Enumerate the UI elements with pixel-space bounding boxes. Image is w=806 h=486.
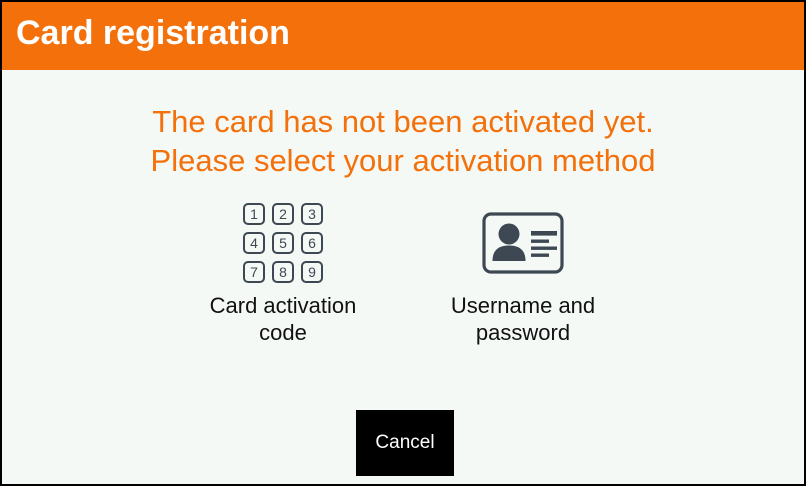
option-username-and-password[interactable]: Username and password [403, 202, 643, 346]
keypad-key: 7 [243, 261, 265, 283]
activation-message: The card has not been activated yet. Ple… [2, 102, 804, 180]
keypad-key: 5 [272, 232, 294, 254]
keypad-key: 6 [301, 232, 323, 254]
activation-message-line-2: Please select your activation method [2, 141, 804, 180]
cancel-button[interactable]: Cancel [356, 410, 454, 476]
page-title: Card registration [16, 14, 290, 53]
option-label-card-activation-code: Card activation code [183, 292, 383, 346]
keypad-key: 1 [243, 203, 265, 225]
option-label-line-1: Username and [451, 293, 595, 318]
activation-method-options: 1 2 3 4 5 6 7 8 9 Card activation code [2, 202, 804, 346]
option-card-activation-code[interactable]: 1 2 3 4 5 6 7 8 9 Card activation code [163, 202, 403, 346]
keypad-key: 9 [301, 261, 323, 283]
card-registration-window: Card registration The card has not been … [0, 0, 806, 486]
titlebar: Card registration [2, 2, 804, 70]
option-label-line-2: password [476, 320, 570, 345]
keypad-key: 3 [301, 203, 323, 225]
keypad-key: 4 [243, 232, 265, 254]
activation-message-line-1: The card has not been activated yet. [2, 102, 804, 141]
keypad-key: 8 [272, 261, 294, 283]
keypad-key: 2 [272, 203, 294, 225]
option-label-line-2: code [259, 320, 307, 345]
keypad-icon[interactable]: 1 2 3 4 5 6 7 8 9 [243, 202, 323, 284]
id-card-icon[interactable] [482, 202, 564, 284]
keypad-grid: 1 2 3 4 5 6 7 8 9 [243, 203, 323, 283]
option-label-username-and-password: Username and password [423, 292, 623, 346]
id-card-icon-graphic [482, 212, 564, 274]
option-label-line-1: Card activation [210, 293, 357, 318]
